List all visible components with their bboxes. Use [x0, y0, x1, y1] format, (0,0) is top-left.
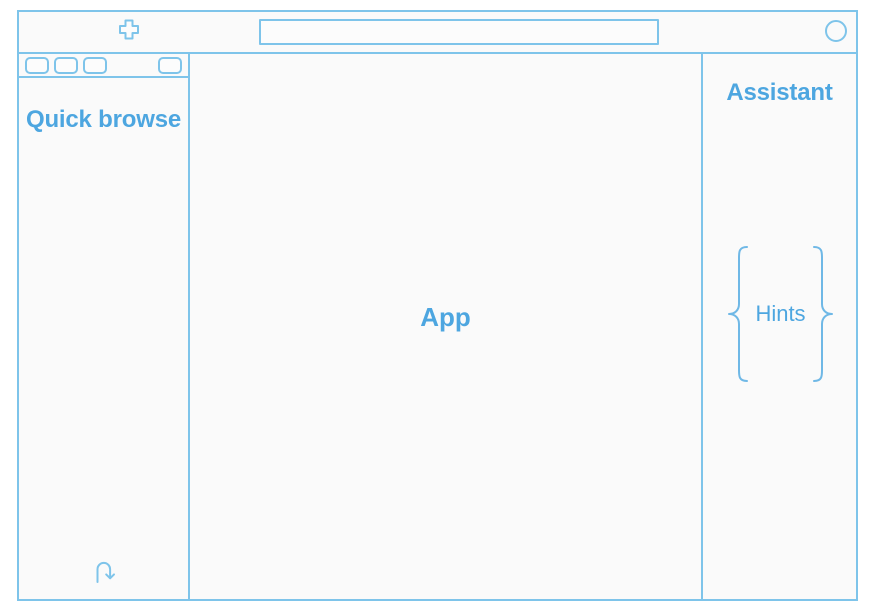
- sidebar-content: Quick browse: [19, 78, 188, 599]
- sidebar-toolbar: [19, 54, 188, 78]
- quick-browse-title: Quick browse: [19, 104, 188, 136]
- new-tab-button[interactable]: [95, 12, 163, 52]
- window-body: Quick browse App Assistant: [19, 54, 856, 599]
- hints-group: Hints: [711, 244, 850, 384]
- history-back-button[interactable]: [87, 555, 123, 589]
- assistant-panel: Assistant Hints: [703, 54, 856, 599]
- left-curly-brace-icon: [725, 244, 751, 384]
- tool-chip-1[interactable]: [25, 57, 49, 74]
- plus-icon: [115, 17, 143, 48]
- account-button[interactable]: [814, 12, 858, 52]
- hints-label: Hints: [751, 301, 809, 327]
- circle-avatar-icon: [824, 19, 848, 46]
- tool-chip-2[interactable]: [54, 57, 78, 74]
- u-turn-arrow-icon: [90, 556, 120, 589]
- assistant-title: Assistant: [703, 79, 856, 107]
- browser-window-frame: Quick browse App Assistant: [17, 10, 858, 601]
- sidebar-panel: Quick browse: [19, 54, 190, 599]
- app-content-area[interactable]: App: [190, 54, 703, 599]
- top-bar: [19, 12, 856, 54]
- address-input[interactable]: [259, 19, 659, 45]
- right-curly-brace-icon: [810, 244, 836, 384]
- tool-chip-end[interactable]: [158, 57, 182, 74]
- app-label: App: [420, 302, 471, 333]
- tool-chip-3[interactable]: [83, 57, 107, 74]
